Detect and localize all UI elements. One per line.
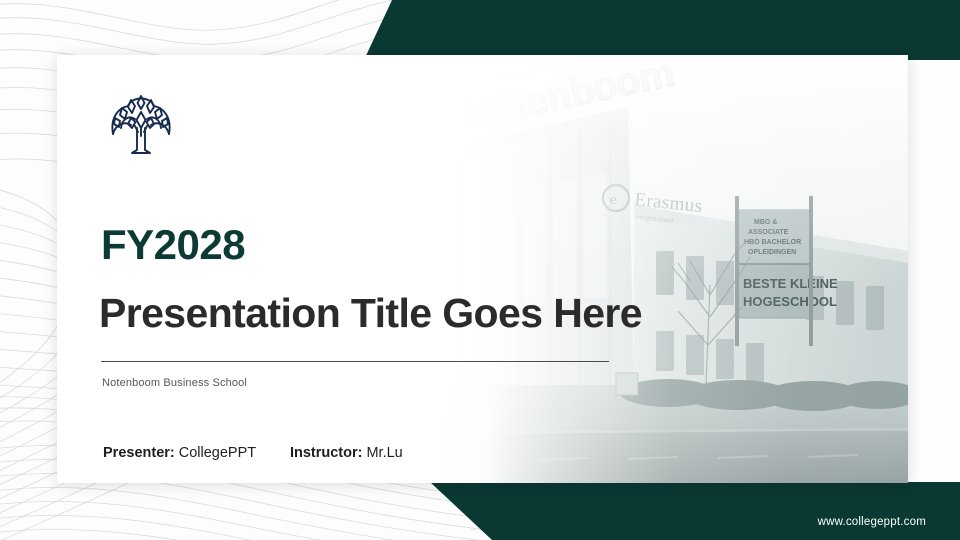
svg-text:ASSOCIATE: ASSOCIATE [748, 229, 789, 236]
svg-text:e: e [610, 192, 617, 208]
school-name: Notenboom Business School [102, 377, 247, 389]
credits-line: Presenter: CollegePPT Instructor: Mr.Lu [103, 445, 403, 461]
svg-text:HOGESCHOOL: HOGESCHOOL [743, 294, 837, 309]
instructor-label: Instructor: [290, 445, 363, 461]
bottom-green-band [0, 482, 960, 540]
presenter-name: CollegePPT [179, 445, 256, 461]
svg-text:BESTE KLEINE: BESTE KLEINE [743, 276, 838, 291]
svg-text:OPLEIDINGEN: OPLEIDINGEN [748, 249, 796, 256]
instructor-name: Mr.Lu [366, 445, 402, 461]
top-green-band [0, 0, 960, 60]
notenboom-tree-logo [104, 88, 178, 158]
title-divider [101, 361, 609, 362]
footer-website-url[interactable]: www.collegeppt.com [818, 516, 926, 528]
fiscal-year-label: FY2028 [101, 224, 245, 266]
presenter-label: Presenter: [103, 445, 175, 461]
page-title: Presentation Title Goes Here [99, 291, 642, 336]
svg-text:MBO &: MBO & [754, 219, 777, 226]
presentation-slide: Business School Notenboom [0, 0, 960, 540]
slide-card: Business School Notenboom [57, 55, 908, 483]
notenboom-building-photo: Business School Notenboom [438, 55, 908, 483]
svg-text:HBO BACHELOR: HBO BACHELOR [744, 239, 801, 246]
